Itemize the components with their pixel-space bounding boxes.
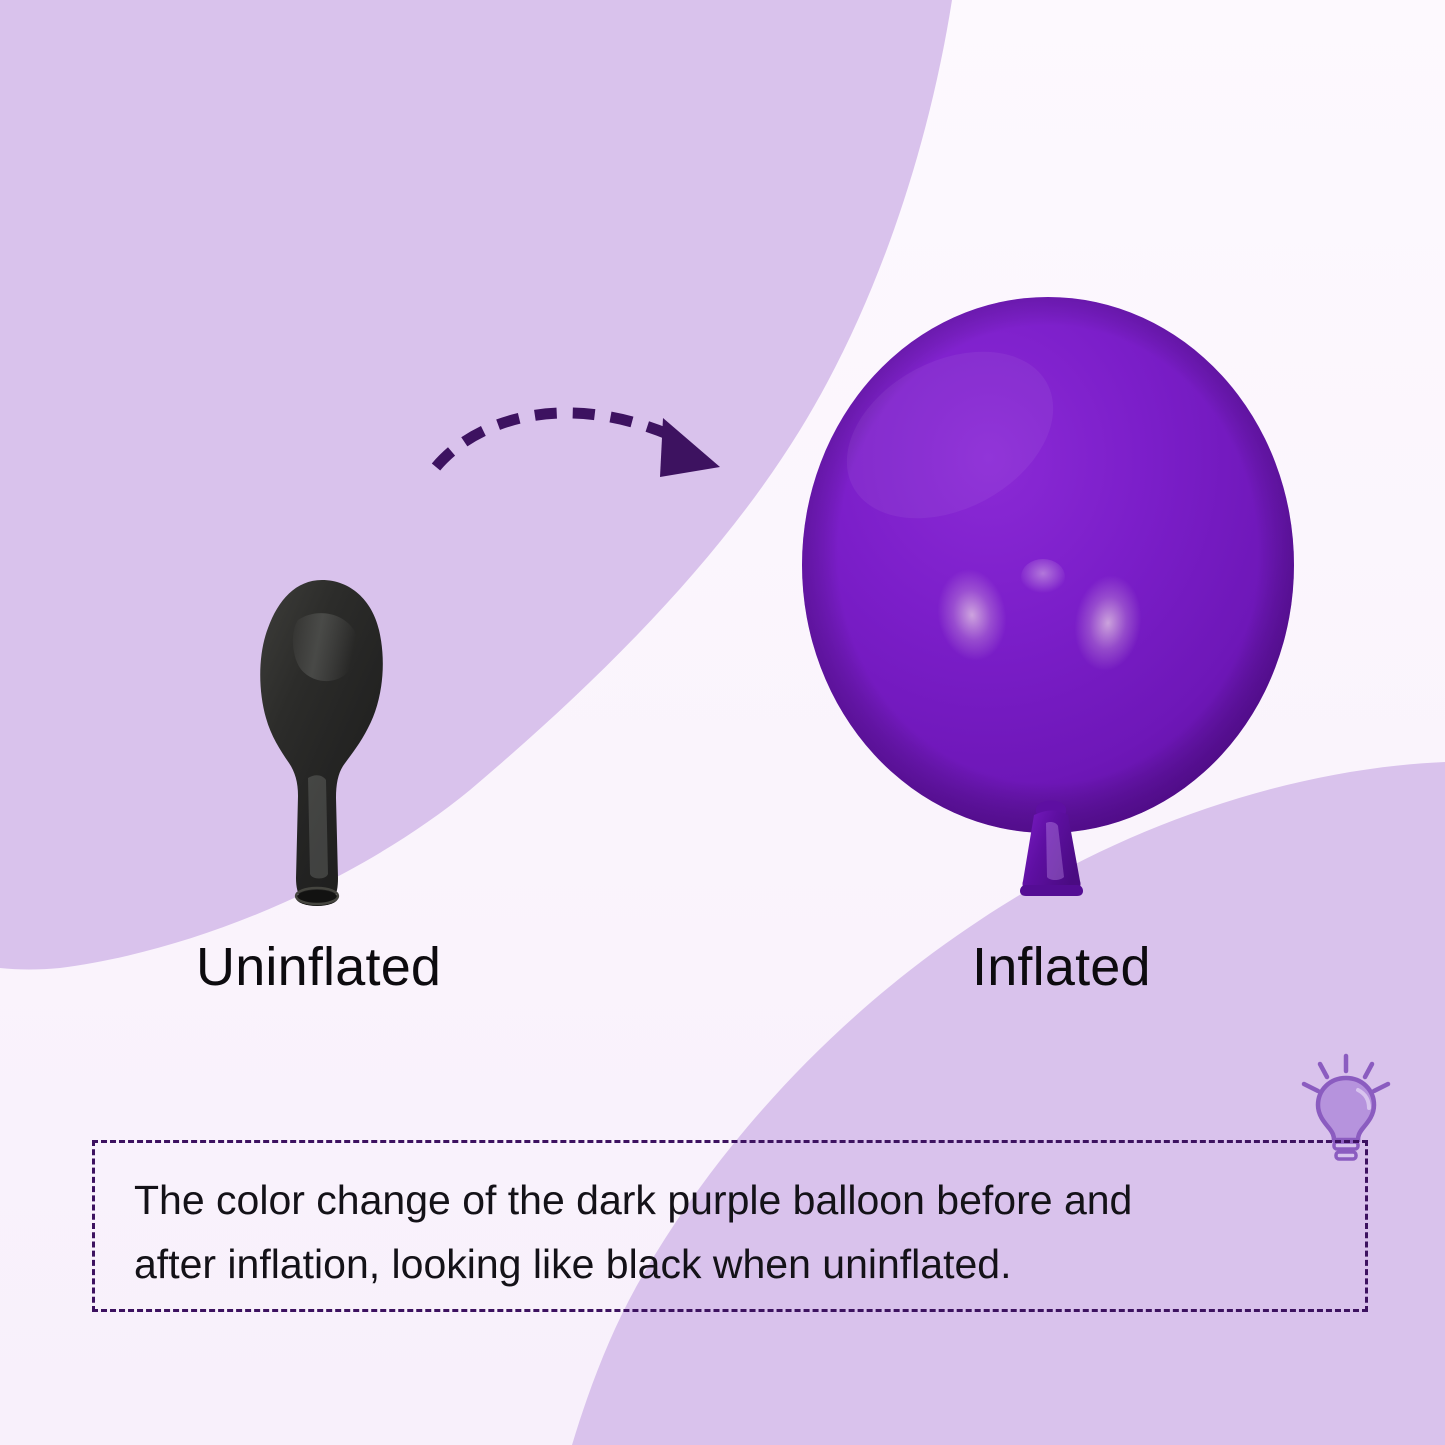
caption-text: The color change of the dark purple ball… [134, 1168, 1334, 1296]
uninflated-balloon [238, 578, 408, 910]
infographic-canvas: Uninflated Inflated The color change of … [0, 0, 1445, 1445]
lightbulb-glass [1318, 1078, 1374, 1140]
label-inflated: Inflated [972, 936, 1151, 998]
uninflated-balloon-neck-highlight [308, 775, 328, 878]
label-uninflated: Uninflated [196, 936, 441, 998]
curved-dashed-arrow-icon [420, 385, 760, 495]
caption-line-1: The color change of the dark purple ball… [134, 1168, 1334, 1232]
caption-line-2: after inflation, looking like black when… [134, 1232, 1334, 1296]
inflated-balloon [800, 285, 1305, 925]
